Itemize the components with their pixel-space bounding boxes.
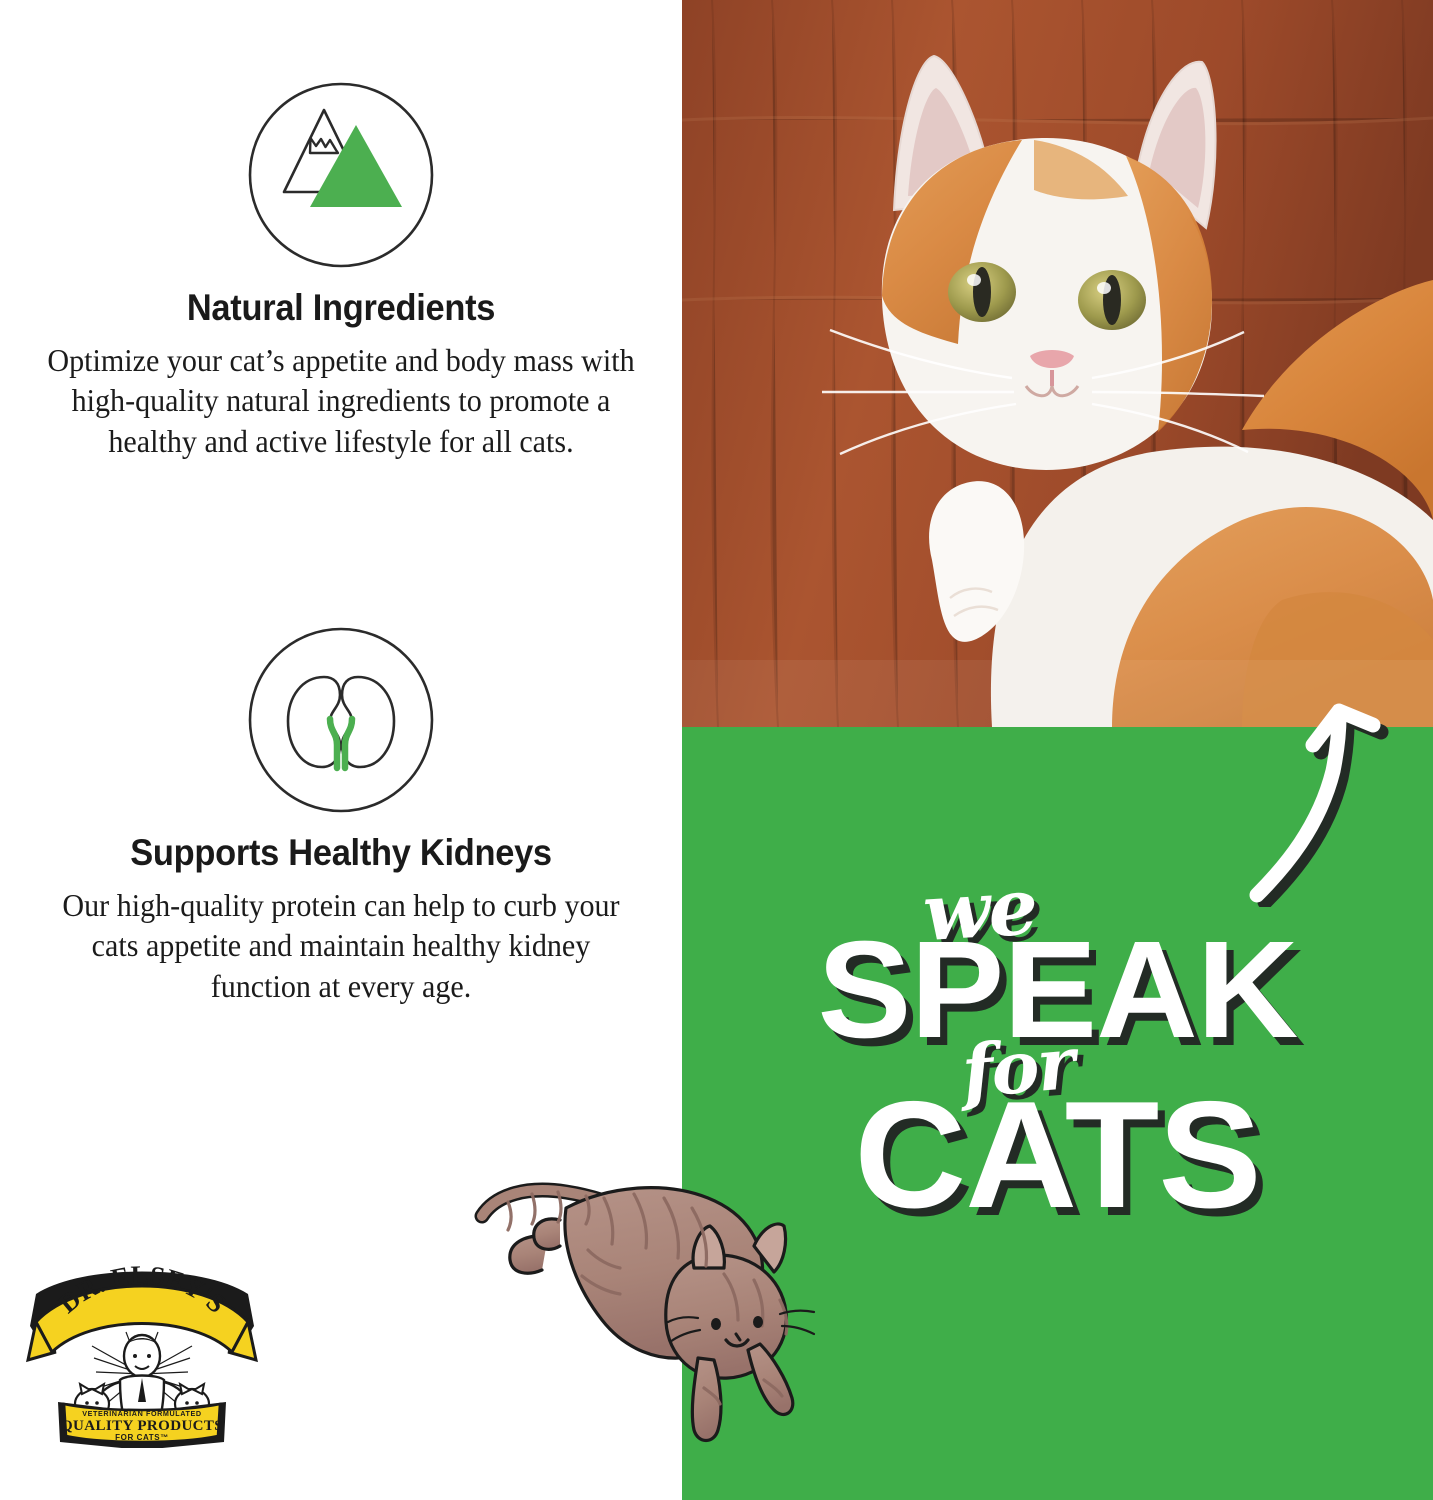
feature-title: Natural Ingredients (24, 288, 658, 328)
leaping-cat-illustration (462, 1172, 842, 1450)
feature-natural-ingredients: Natural Ingredients Optimize your cat’s … (0, 80, 682, 461)
svg-text:QUALITY PRODUCTS: QUALITY PRODUCTS (61, 1418, 223, 1434)
svg-text:FOR CATS™: FOR CATS™ (115, 1433, 169, 1442)
feature-body: Our high-quality protein can help to cur… (20, 885, 661, 1006)
svg-text:VETERINARIAN FORMULATED: VETERINARIAN FORMULATED (82, 1409, 201, 1418)
hero-cat-photo (682, 0, 1433, 727)
feature-body: Optimize your cat’s appetite and body ma… (20, 340, 661, 461)
feature-supports-healthy-kidneys: Supports Healthy Kidneys Our high-qualit… (0, 625, 682, 1006)
feature-title: Supports Healthy Kidneys (24, 833, 658, 873)
dr-elseys-logo: DR. ELSEY'S (22, 1256, 262, 1448)
mountains-icon (246, 80, 436, 270)
kidneys-icon (246, 625, 436, 815)
slogan-line-for: for (959, 1027, 1076, 1108)
